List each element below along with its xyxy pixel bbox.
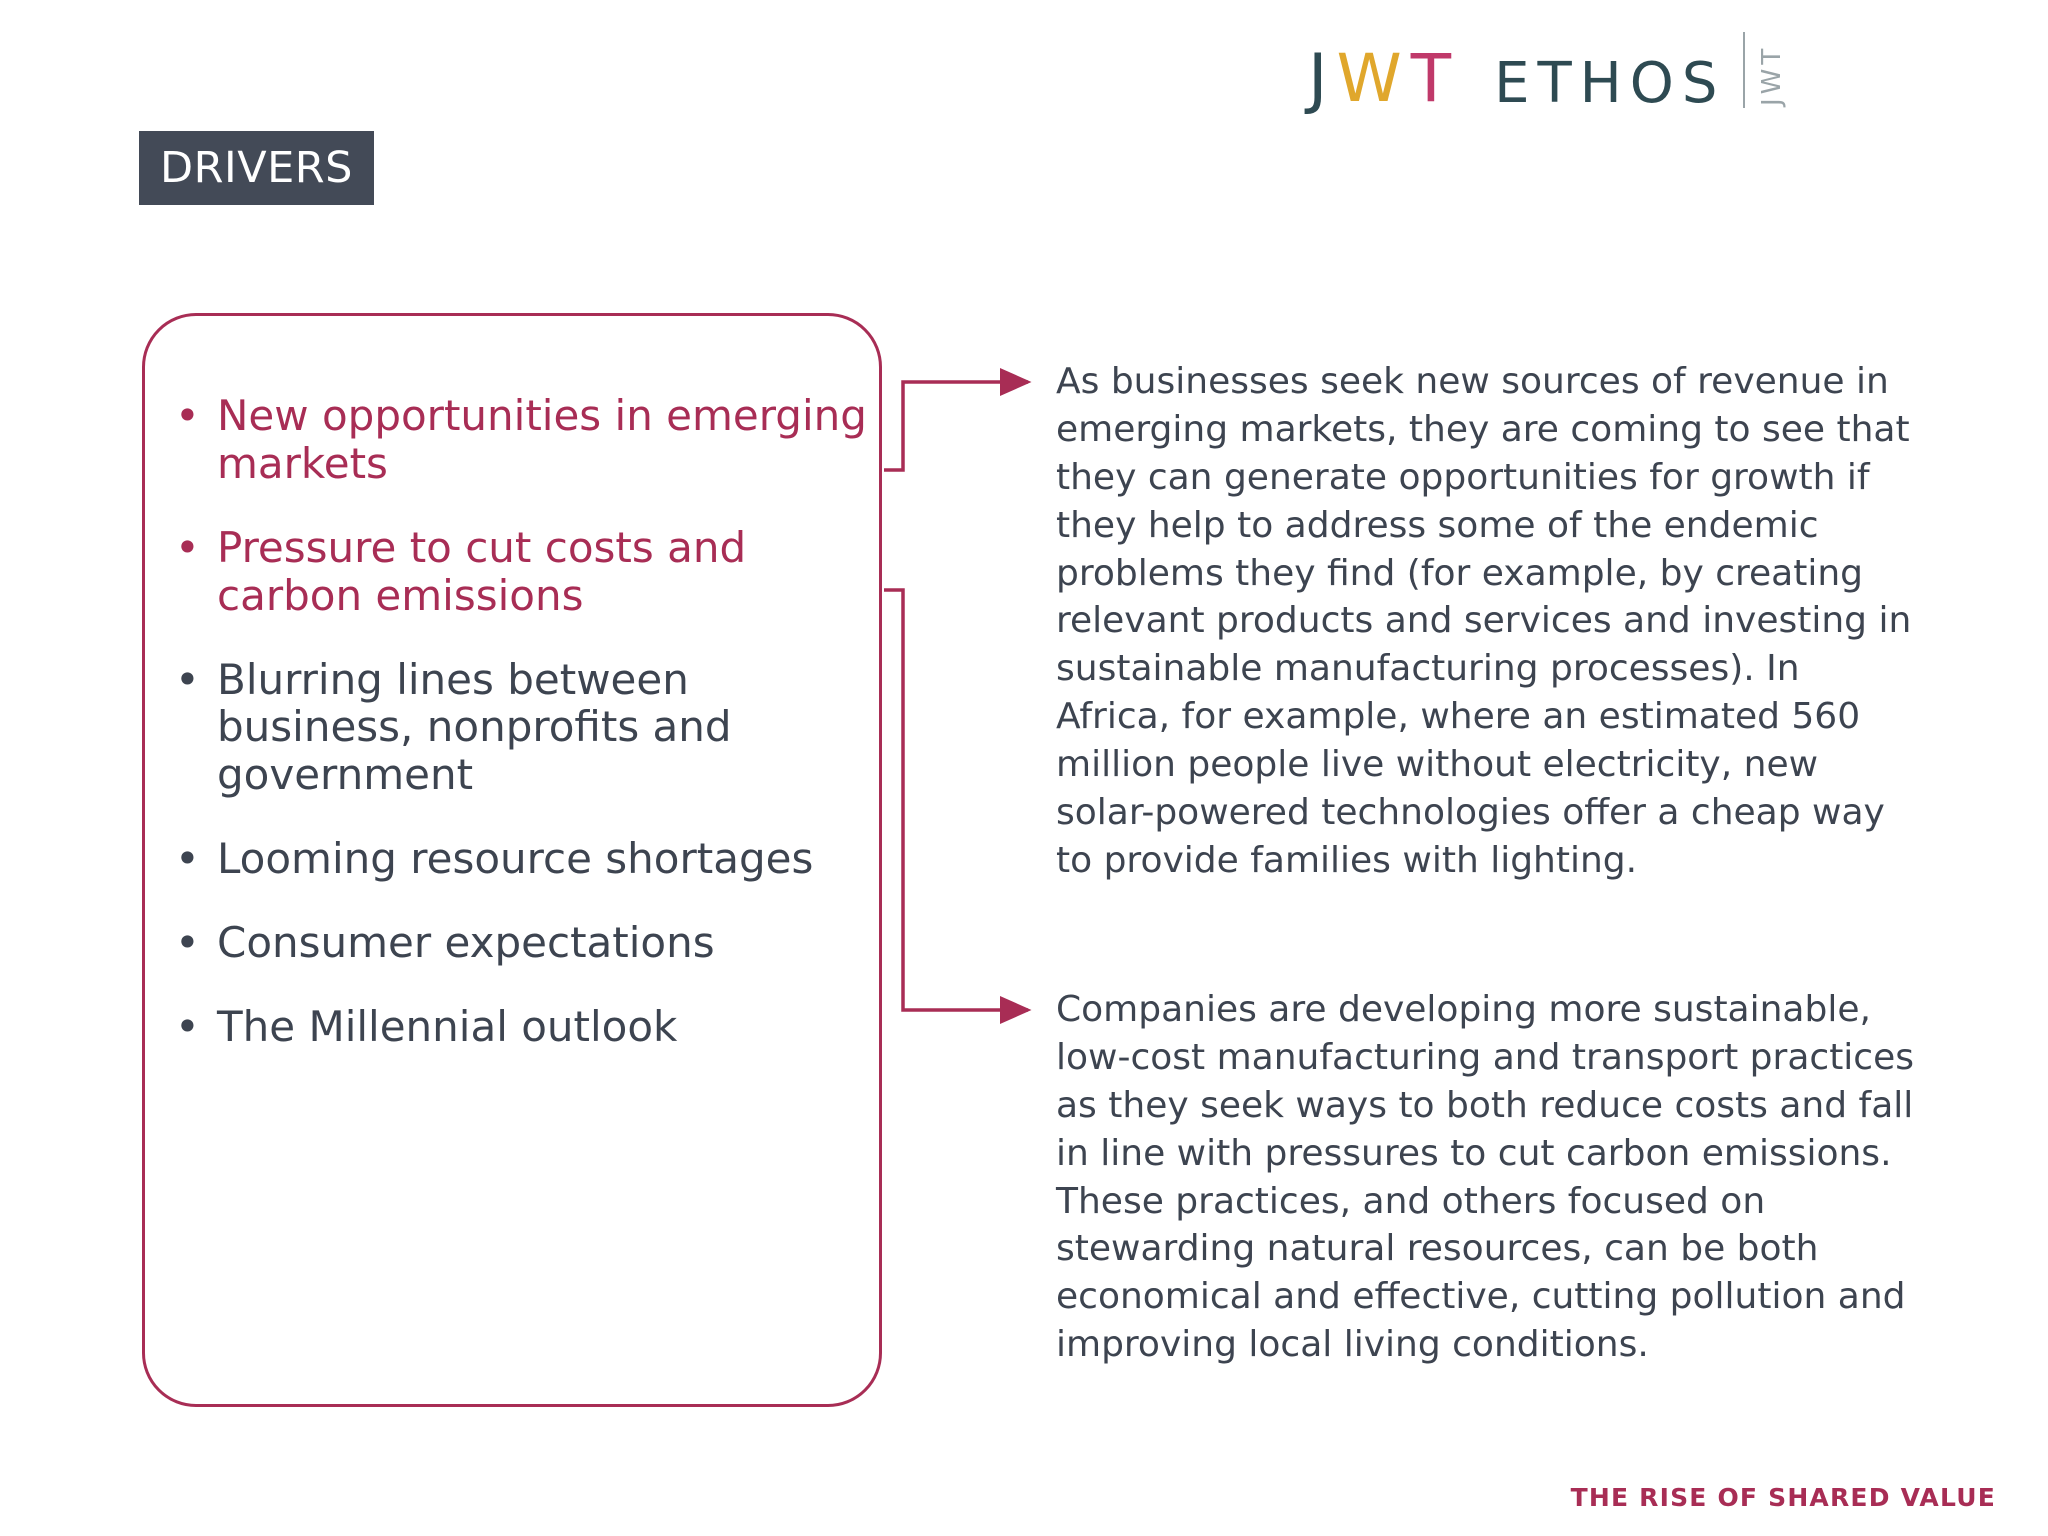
section-title-drivers: DRIVERS <box>139 131 374 205</box>
list-item[interactable]: • Consumer expectations <box>175 919 885 967</box>
section-title-label: DRIVERS <box>160 143 353 193</box>
list-item-label: New opportunities in emerging markets <box>217 392 885 488</box>
list-item[interactable]: • Blurring lines between business, nonpr… <box>175 656 885 800</box>
jwt-ethos-logo: JWT ETHOS JWT <box>1308 22 1785 112</box>
description-paragraph-2: Companies are developing more sustainabl… <box>1056 986 1916 1369</box>
slide-canvas: JWT ETHOS JWT DRIVERS • New opportunitie… <box>0 0 2048 1536</box>
list-item[interactable]: • Pressure to cut costs and carbon emiss… <box>175 524 885 620</box>
list-item[interactable]: • New opportunities in emerging markets <box>175 392 885 488</box>
bullet-dot-icon: • <box>175 835 217 883</box>
connector-arrow-1 <box>884 382 1028 470</box>
logo-divider <box>1743 32 1745 108</box>
logo-ethos-wordmark: ETHOS <box>1494 56 1725 112</box>
list-item-label: Looming resource shortages <box>217 835 885 883</box>
logo-letter-w: W <box>1336 46 1408 112</box>
bullet-dot-icon: • <box>175 392 217 440</box>
logo-letter-j: J <box>1308 46 1334 112</box>
description-paragraph-1: As businesses seek new sources of revenu… <box>1056 358 1916 885</box>
footer-title: THE RISE OF SHARED VALUE <box>1571 1483 1996 1512</box>
list-item[interactable]: • The Millennial outlook <box>175 1003 885 1051</box>
bullet-dot-icon: • <box>175 656 217 704</box>
logo-jwt-wordmark: JWT <box>1308 46 1458 112</box>
logo-vertical-jwt-mark: JWT <box>1759 28 1785 106</box>
bullet-dot-icon: • <box>175 1003 217 1051</box>
connector-arrow-2 <box>884 590 1028 1010</box>
list-item-label: Pressure to cut costs and carbon emissio… <box>217 524 885 620</box>
bullet-dot-icon: • <box>175 919 217 967</box>
bullet-dot-icon: • <box>175 524 217 572</box>
logo-letter-t: T <box>1411 46 1458 112</box>
list-item-label: Blurring lines between business, nonprof… <box>217 656 885 800</box>
list-item[interactable]: • Looming resource shortages <box>175 835 885 883</box>
list-item-label: The Millennial outlook <box>217 1003 885 1051</box>
drivers-bullet-list: • New opportunities in emerging markets … <box>175 392 885 1087</box>
list-item-label: Consumer expectations <box>217 919 885 967</box>
